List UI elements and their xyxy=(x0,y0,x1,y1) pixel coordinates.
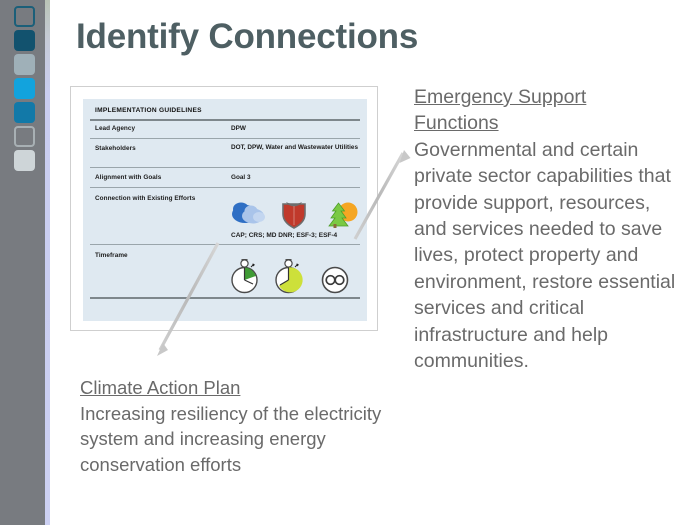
table-header: IMPLEMENTATION GUIDELINES xyxy=(95,107,202,114)
existing-efforts-caption: CAP; CRS; MD DNR; ESF-3; ESF-4 xyxy=(231,232,337,239)
row-label: Lead Agency xyxy=(95,125,135,132)
callout-heading: Climate Action Plan xyxy=(80,375,410,401)
swatch-bright-cyan[interactable] xyxy=(14,78,35,99)
page-title: Identify Connections xyxy=(76,17,418,57)
callout-body: Increasing resiliency of the electricity… xyxy=(80,403,381,475)
tree-sun-icon xyxy=(329,203,358,229)
row-label: Connection with Existing Efforts xyxy=(95,195,195,202)
callout-heading: Emergency Support Functions xyxy=(414,84,676,137)
swatch-dark-teal[interactable] xyxy=(14,30,35,51)
row-label: Stakeholders xyxy=(95,145,136,152)
swatch-medium-teal[interactable] xyxy=(14,102,35,123)
table-bottom-rule xyxy=(90,297,360,299)
slide-canvas: Identify Connections IMPLEMENTATION GUID… xyxy=(0,0,700,525)
cloud-icon xyxy=(232,203,265,224)
row-label: Timeframe xyxy=(95,252,128,259)
timeframe-icons xyxy=(231,259,363,302)
swatch-outline-dark-teal[interactable] xyxy=(14,6,35,27)
infinity-icon xyxy=(323,268,348,293)
row-divider xyxy=(90,187,360,188)
implementation-guidelines-table: IMPLEMENTATION GUIDELINES Lead Agency DP… xyxy=(83,99,367,321)
row-divider xyxy=(90,244,360,245)
row-value: DOT, DPW, Water and Wastewater Utilities xyxy=(231,144,363,153)
callout-climate-action-plan: Climate Action Plan Increasing resilienc… xyxy=(80,375,410,477)
swatch-light-gray[interactable] xyxy=(14,150,35,171)
color-swatch-sidebar xyxy=(0,0,45,525)
row-label: Alignment with Goals xyxy=(95,174,161,181)
row-value: Goal 3 xyxy=(231,174,363,183)
swatch-outline-gray[interactable] xyxy=(14,126,35,147)
swatch-gray-blue[interactable] xyxy=(14,54,35,75)
slide-edge-strip-inner xyxy=(50,0,52,525)
row-value: DPW xyxy=(231,125,363,134)
stopwatch-medium-icon xyxy=(276,259,303,293)
callout-body: Governmental and certain private sector … xyxy=(414,139,675,372)
row-divider xyxy=(90,167,360,168)
shield-icon xyxy=(283,202,305,228)
existing-efforts-icons xyxy=(231,199,363,234)
stopwatch-short-icon xyxy=(232,259,257,293)
table-header-rule xyxy=(90,119,360,121)
implementation-guidelines-figure: IMPLEMENTATION GUIDELINES Lead Agency DP… xyxy=(70,86,378,331)
row-divider xyxy=(90,138,360,139)
callout-emergency-support-functions: Emergency Support Functions Governmental… xyxy=(414,84,676,374)
